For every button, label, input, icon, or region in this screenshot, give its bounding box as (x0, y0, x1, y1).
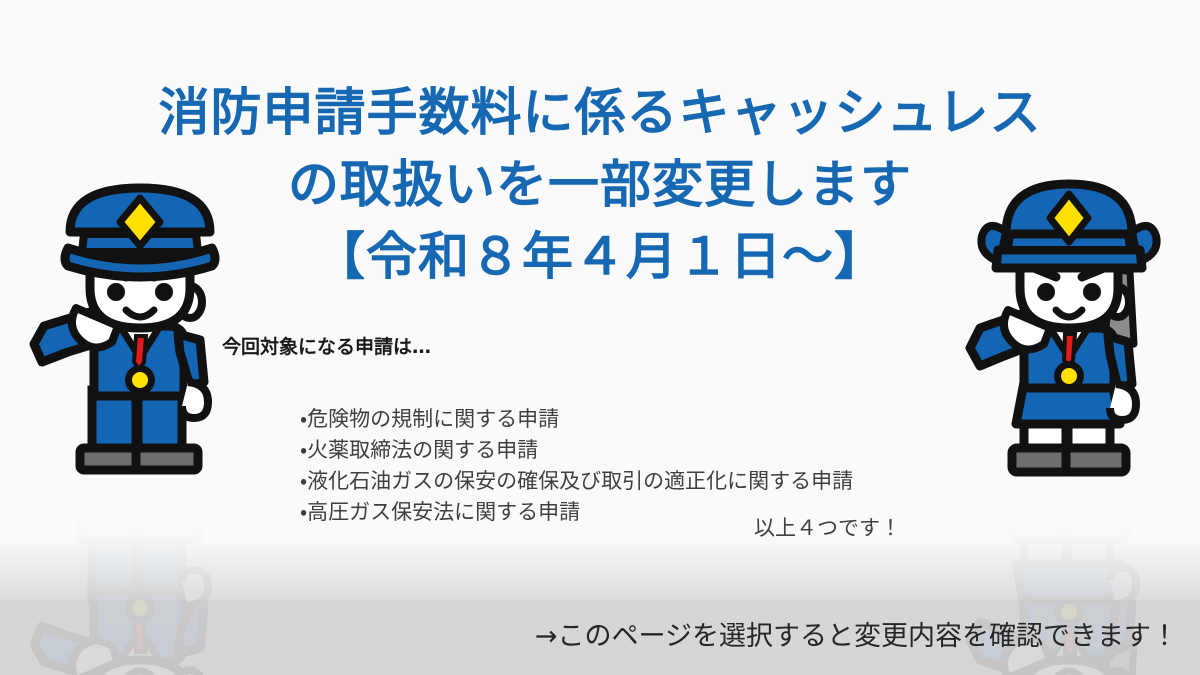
headline-block: 消防申請手数料に係るキャッシュレス の取扱いを一部変更します 【令和８年４月１日… (0, 78, 1200, 294)
list-count-note: 以上４つです！ (754, 513, 901, 543)
headline-line-1: 消防申請手数料に係るキャッシュレス (0, 78, 1200, 150)
footer-call-to-action[interactable]: →このページを選択すると変更内容を確認できます！ (0, 619, 1178, 655)
target-application-list: ・危険物の規制に関する申請 ・火薬取締法の関する申請 ・液化石油ガスの保安の確保… (300, 404, 853, 528)
list-item: ・液化石油ガスの保安の確保及び取引の適正化に関する申請 (300, 466, 853, 497)
headline-line-3: 【令和８年４月１日〜】 (0, 222, 1200, 294)
headline-line-2: の取扱いを一部変更します (0, 150, 1200, 222)
list-item: ・火薬取締法の関する申請 (300, 435, 853, 466)
lead-in-text: 今回対象になる申請は… (222, 334, 431, 360)
list-item: ・危険物の規制に関する申請 (300, 404, 853, 435)
slide-canvas: 消防申請手数料に係るキャッシュレス の取扱いを一部変更します 【令和８年４月１日… (0, 0, 1200, 675)
